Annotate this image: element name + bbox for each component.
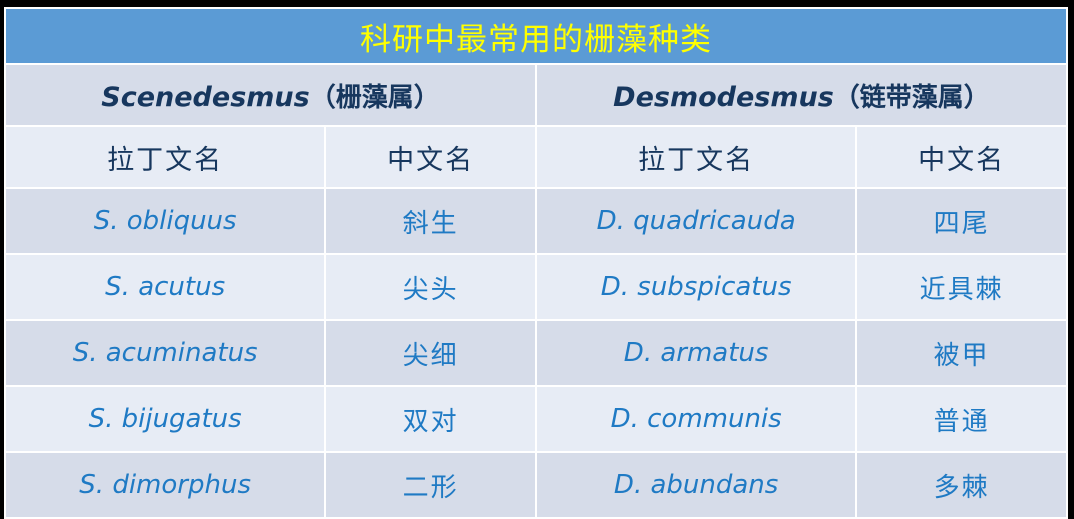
column-header-chinese-2: 中文名: [857, 127, 1066, 187]
cell-scenedesmus-latin: S. obliquus: [6, 189, 324, 253]
cell-desmodesmus-chinese: 四尾: [857, 189, 1066, 253]
cell-desmodesmus-latin: D. abundans: [537, 453, 855, 517]
column-header-latin-2: 拉丁文名: [537, 127, 855, 187]
genus-header-scenedesmus: Scenedesmus（栅藻属）: [6, 65, 535, 125]
genus-latin-desmodesmus: Desmodesmus: [613, 82, 834, 113]
column-header-row: 拉丁文名 中文名 拉丁文名 中文名: [6, 127, 1066, 187]
cell-desmodesmus-chinese: 被甲: [857, 321, 1066, 385]
cell-scenedesmus-chinese: 双对: [326, 387, 535, 451]
cell-desmodesmus-latin: D. subspicatus: [537, 255, 855, 319]
table-frame: 科研中最常用的栅藻种类 Scenedesmus（栅藻属） Desmodesmus…: [0, 0, 1074, 517]
genus-header-row: Scenedesmus（栅藻属） Desmodesmus（链带藻属）: [6, 65, 1066, 125]
table-row: S. dimorphus 二形 D. abundans 多棘: [6, 453, 1066, 517]
genus-header-desmodesmus: Desmodesmus（链带藻属）: [537, 65, 1066, 125]
table-row: S. obliquus 斜生 D. quadricauda 四尾: [6, 189, 1066, 253]
cell-desmodesmus-chinese: 多棘: [857, 453, 1066, 517]
table-title-row: 科研中最常用的栅藻种类: [6, 9, 1066, 63]
species-table: 科研中最常用的栅藻种类 Scenedesmus（栅藻属） Desmodesmus…: [4, 7, 1068, 519]
cell-scenedesmus-latin: S. bijugatus: [6, 387, 324, 451]
cell-scenedesmus-chinese: 尖头: [326, 255, 535, 319]
page-title: 科研中最常用的栅藻种类: [6, 9, 1066, 63]
table-row: S. acuminatus 尖细 D. armatus 被甲: [6, 321, 1066, 385]
cell-desmodesmus-latin: D. quadricauda: [537, 189, 855, 253]
cell-desmodesmus-chinese: 近具棘: [857, 255, 1066, 319]
genus-chinese-scenedesmus: （栅藻属）: [310, 83, 440, 113]
cell-desmodesmus-latin: D. communis: [537, 387, 855, 451]
column-header-latin-1: 拉丁文名: [6, 127, 324, 187]
cell-scenedesmus-latin: S. acuminatus: [6, 321, 324, 385]
column-header-chinese-1: 中文名: [326, 127, 535, 187]
cell-scenedesmus-latin: S. dimorphus: [6, 453, 324, 517]
cell-scenedesmus-chinese: 斜生: [326, 189, 535, 253]
genus-chinese-desmodesmus: （链带藻属）: [834, 83, 990, 113]
cell-desmodesmus-chinese: 普通: [857, 387, 1066, 451]
genus-latin-scenedesmus: Scenedesmus: [101, 82, 309, 113]
table-row: S. acutus 尖头 D. subspicatus 近具棘: [6, 255, 1066, 319]
cell-scenedesmus-chinese: 二形: [326, 453, 535, 517]
cell-desmodesmus-latin: D. armatus: [537, 321, 855, 385]
cell-scenedesmus-chinese: 尖细: [326, 321, 535, 385]
cell-scenedesmus-latin: S. acutus: [6, 255, 324, 319]
table-row: S. bijugatus 双对 D. communis 普通: [6, 387, 1066, 451]
